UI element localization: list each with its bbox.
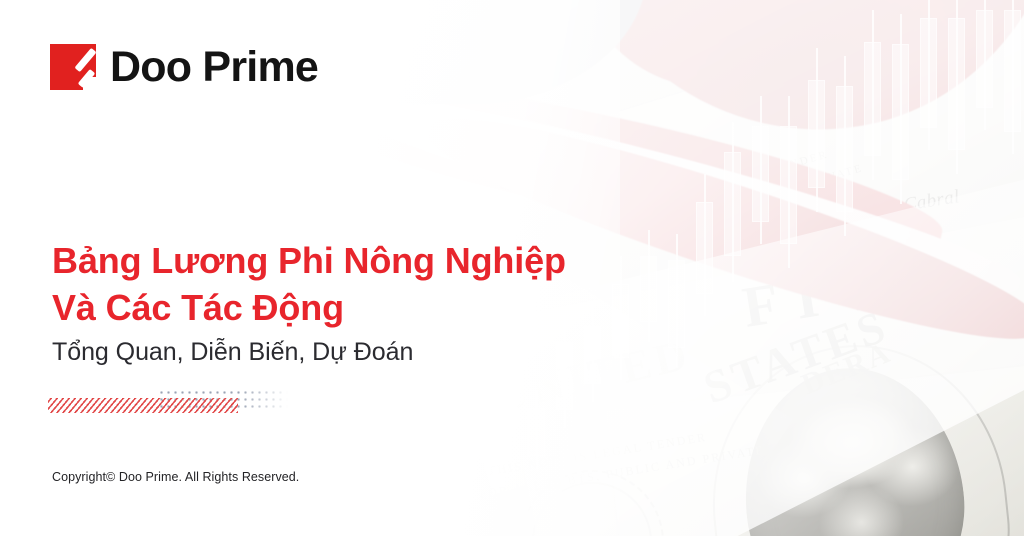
promo-banner: DOLLAR L TENDER IC AND PRIVATE Rosa Gurr… bbox=[0, 0, 1024, 536]
decorative-divider bbox=[48, 389, 288, 417]
brand-logo[interactable]: Doo Prime bbox=[50, 44, 318, 90]
brand-name: Doo Prime bbox=[110, 46, 318, 89]
copyright-notice: Copyright© Doo Prime. All Rights Reserve… bbox=[52, 470, 299, 484]
hatch-bar-decoration bbox=[48, 398, 238, 413]
banner-content: Doo Prime Bảng Lương Phi Nông Nghiệp Và … bbox=[0, 0, 1024, 536]
page-title: Bảng Lương Phi Nông Nghiệp Và Các Tác Độ… bbox=[52, 238, 566, 332]
doo-prime-logo-mark-icon bbox=[50, 44, 96, 90]
page-subtitle: Tổng Quan, Diễn Biến, Dự Đoán bbox=[52, 337, 413, 368]
page-title-line-2: Và Các Tác Động bbox=[52, 285, 566, 332]
page-title-line-1: Bảng Lương Phi Nông Nghiệp bbox=[52, 240, 566, 281]
